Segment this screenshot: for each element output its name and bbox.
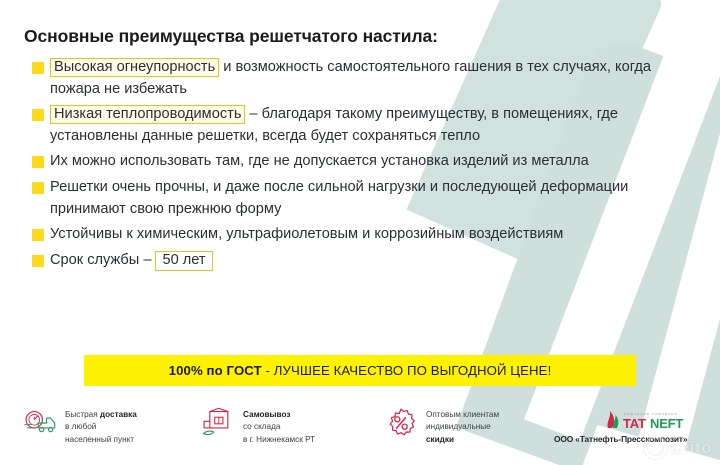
bullet-marker-icon	[32, 156, 44, 168]
delivery-truck-icon	[22, 406, 58, 440]
feature-line-1a: Быстрая	[65, 410, 100, 419]
content-area: Основные преимущества решетчатого настил…	[0, 0, 720, 271]
feature-line-2: индивидуальные	[426, 421, 499, 433]
list-item: Срок службы – 50 лет	[24, 250, 702, 272]
bullet-marker-icon	[32, 255, 44, 267]
svg-text:TAT: TAT	[623, 416, 646, 431]
bullet-text: Решетки очень прочны, и даже после сильн…	[50, 179, 628, 217]
bullet-marker-icon	[32, 109, 44, 121]
feature-delivery: Быстрая доставка в любой населенный пунк…	[22, 406, 190, 446]
promo-gost: ГОСТ	[227, 363, 262, 378]
feature-discount: Оптовым клиентам индивидуальные скидки	[383, 406, 548, 446]
warranty-value: 50 лет	[155, 251, 212, 271]
pickup-warehouse-icon	[200, 406, 236, 440]
promo-tail: - ЛУЧШЕЕ КАЧЕСТВО ПО ВЫГОДНОЙ ЦЕНЕ!	[266, 363, 552, 378]
feature-line-1: Оптовым клиентам	[426, 409, 499, 421]
slide-root: Основные преимущества решетчатого настил…	[0, 0, 720, 465]
footer-bar: Быстрая доставка в любой населенный пунк…	[0, 398, 720, 465]
feature-delivery-text: Быстрая доставка в любой населенный пунк…	[65, 406, 137, 446]
feature-pickup-text: Самовывоз со склада в г. Нижнекамск РТ	[243, 406, 315, 446]
highlight-text: Низкая теплопроводимость	[50, 105, 245, 124]
list-item: Их можно использовать там, где не допуск…	[24, 151, 702, 173]
feature-line-3: в г. Нижнекамск РТ	[243, 434, 315, 446]
advantages-list: Высокая огнеупорность и возможность само…	[24, 57, 702, 271]
feature-line-1b: доставка	[100, 410, 137, 419]
page-title: Основные преимущества решетчатого настил…	[24, 26, 702, 47]
bullet-text: Их можно использовать там, где не допуск…	[50, 153, 589, 169]
feature-line-1: Самовывоз	[243, 409, 315, 421]
bullet-marker-icon	[32, 182, 44, 194]
feature-line-3: населенный пункт	[65, 434, 137, 446]
list-item: Низкая теплопроводимость – благодаря так…	[24, 104, 702, 147]
promo-percent: 100% по	[169, 363, 223, 378]
highlight-text: Высокая огнеупорность	[50, 58, 219, 77]
feature-pickup: Самовывоз со склада в г. Нижнекамск РТ	[200, 406, 375, 446]
discount-percent-icon	[383, 406, 419, 440]
brand-block: нефтяная компания TAT NEFT ООО «Татнефть…	[554, 406, 704, 444]
feature-line-2: со склада	[243, 421, 315, 433]
tatneft-logo: нефтяная компания TAT NEFT	[602, 408, 698, 432]
list-item: Решетки очень прочны, и даже после сильн…	[24, 177, 702, 220]
bullet-text: Устойчивы к химическим, ультрафиолетовым…	[50, 226, 563, 242]
list-item: Устойчивы к химическим, ультрафиолетовым…	[24, 224, 702, 246]
list-item: Высокая огнеупорность и возможность само…	[24, 57, 702, 100]
company-name: ООО «Татнефть-Пресскомпозит»	[554, 434, 704, 444]
feature-line-3: скидки	[426, 434, 499, 446]
svg-text:NEFT: NEFT	[650, 416, 683, 431]
promo-banner: 100% по ГОСТ - ЛУЧШЕЕ КАЧЕСТВО ПО ВЫГОДН…	[84, 355, 636, 386]
feature-line-2: в любой	[65, 421, 137, 433]
bullet-marker-icon	[32, 62, 44, 74]
bullet-text: Срок службы –	[50, 252, 155, 268]
promo-banner-text: 100% по ГОСТ - ЛУЧШЕЕ КАЧЕСТВО ПО ВЫГОДН…	[169, 363, 552, 378]
feature-discount-text: Оптовым клиентам индивидуальные скидки	[426, 406, 499, 446]
bullet-marker-icon	[32, 229, 44, 241]
